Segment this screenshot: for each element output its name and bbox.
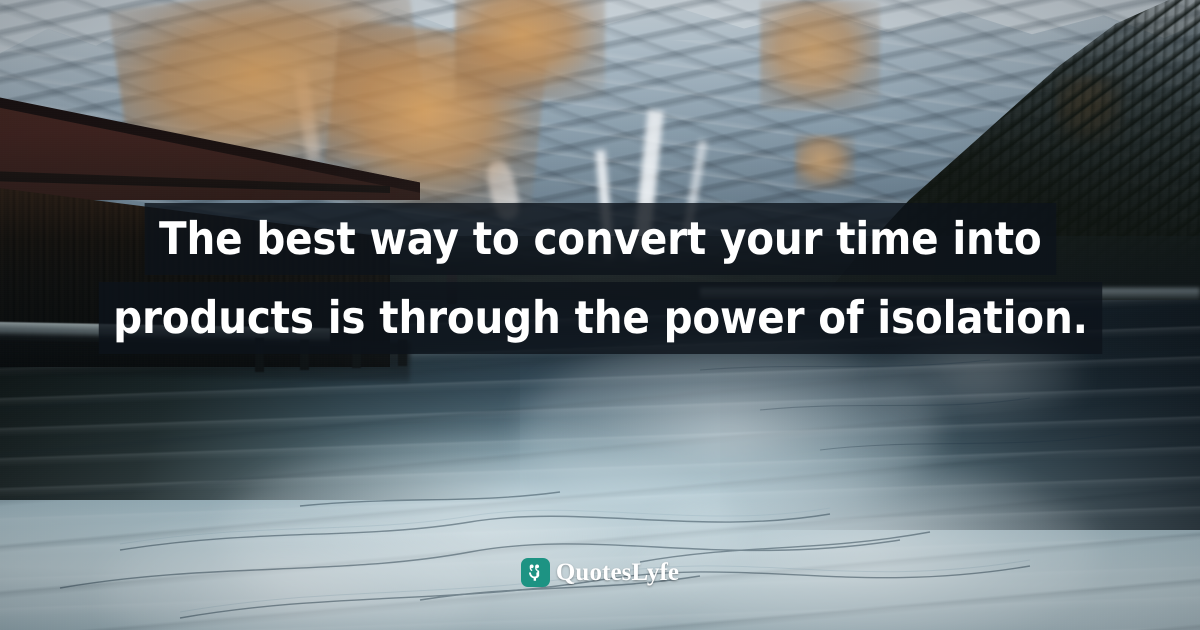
quote-mark-icon xyxy=(525,562,546,583)
alpenglow-rock xyxy=(760,0,880,110)
quote-image-canvas: The best way to convert your time into p… xyxy=(0,0,1200,630)
brand-name-text: QuotesLyfe xyxy=(556,558,679,587)
alpenglow-rock xyxy=(795,135,855,190)
brand-watermark[interactable]: QuotesLyfe xyxy=(0,558,1200,587)
quote-line-2: products is through the power of isolati… xyxy=(98,282,1101,354)
quote-line-1: The best way to convert your time into xyxy=(144,203,1055,275)
alpenglow-rock xyxy=(455,0,605,100)
quote-overlay: The best way to convert your time into p… xyxy=(0,203,1200,354)
quotes-lyfe-logo-mark xyxy=(521,558,550,587)
